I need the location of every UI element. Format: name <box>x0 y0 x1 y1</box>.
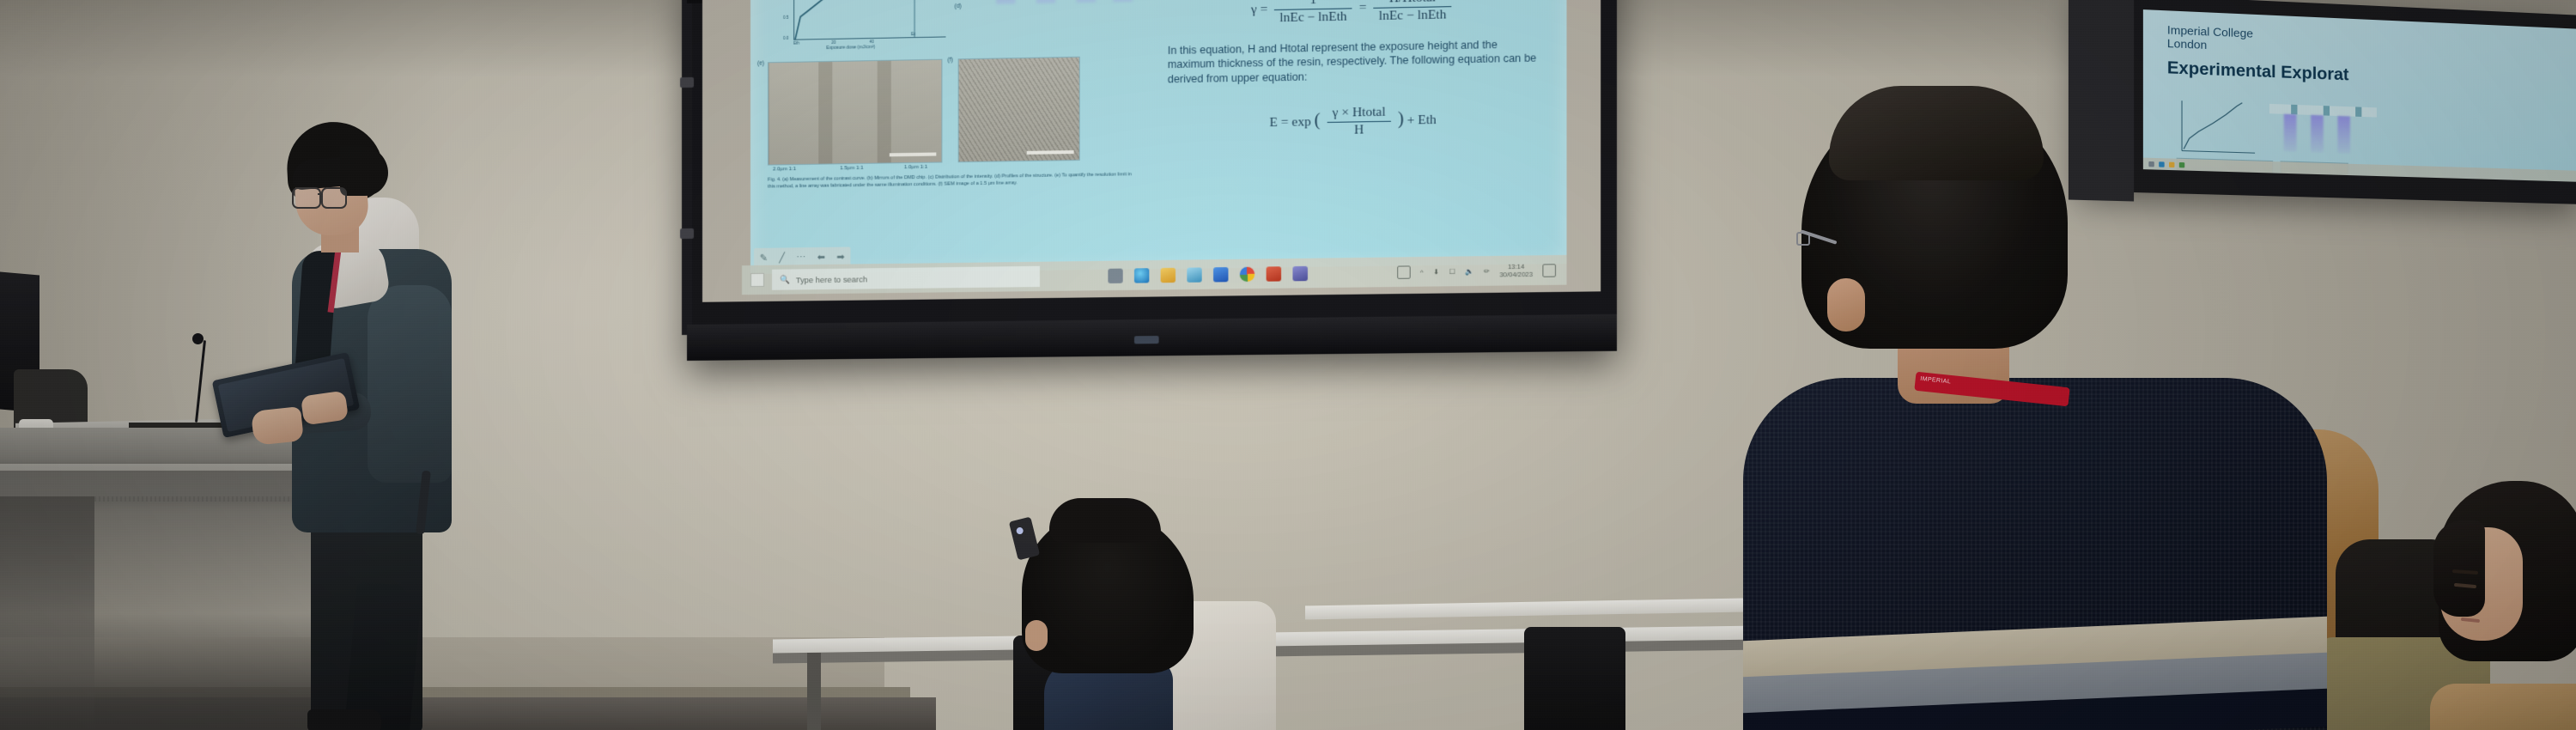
sem-label-20: 2.0µm 1:1 <box>773 167 796 172</box>
sem-image-line-array <box>768 59 942 166</box>
audience-center-ear <box>1025 620 1048 651</box>
chair <box>1524 627 1625 730</box>
taskbar-clock[interactable]: 13:14 30/04/2023 <box>1499 262 1532 279</box>
lecture-room-photo: Height (µm) Exposure dose (mJ/cm²) 0.0 0… <box>0 0 2576 730</box>
powerpoint-slide: Height (µm) Exposure dose (mJ/cm²) 0.0 0… <box>750 0 1567 274</box>
contrast-curve-figure: Height (µm) Exposure dose (mJ/cm²) 0.0 0… <box>766 0 952 53</box>
equation-gamma: γ = 1 lnEc − lnEth = H/Htotal lnEc − lnE… <box>1168 0 1540 27</box>
graph-xlabel: Exposure dose (mJ/cm²) <box>826 45 875 51</box>
projected-desktop: Height (µm) Exposure dose (mJ/cm²) 0.0 0… <box>702 0 1601 302</box>
sem-scalebar <box>890 152 937 156</box>
audience-foreground-hair-top <box>1829 86 2044 180</box>
dmd-intensity-figure: Intensity (a.u.) <box>965 0 1149 45</box>
screen-strap-clip <box>680 77 694 88</box>
graph-ytick-0: 0.0 <box>783 36 788 40</box>
presenter-jacket-arm <box>368 285 452 483</box>
equation2-denominator: H <box>1327 122 1390 138</box>
slide-paragraph-2: In this equation, H and Htotal represent… <box>1168 37 1540 87</box>
microphone-head-icon <box>192 333 204 344</box>
search-icon: 🔍 <box>780 274 790 284</box>
screen-side-strap <box>682 0 692 335</box>
equation-fraction-2: H/Htotal lnEc − lnEth <box>1374 0 1452 24</box>
edge-icon[interactable] <box>1134 268 1149 283</box>
glasses-icon <box>292 187 354 206</box>
start-button[interactable] <box>750 273 764 287</box>
teams-icon[interactable] <box>1292 265 1307 280</box>
monitor-slide-title: Experimental Explorat <box>2167 59 2349 86</box>
phone-icon <box>1009 517 1040 561</box>
sem-label-15: 1.5µm 1:1 <box>840 166 863 171</box>
graph-xtick-1: 20 <box>831 40 835 45</box>
slide-body-text: dose required for the initial reaction o… <box>1168 0 1540 156</box>
tray-app-icon[interactable] <box>1397 265 1411 278</box>
clock-time: 13:14 <box>1499 262 1532 271</box>
audience-center-hair-tuft <box>1049 498 1161 543</box>
sem-label-10: 1.0µm 1:1 <box>904 165 927 170</box>
equation-fraction-1: 1 lnEc − lnEth <box>1274 0 1352 26</box>
clock-date: 30/04/2023 <box>1499 271 1532 279</box>
graph-xtick-0: Eth <box>793 41 799 46</box>
search-placeholder: Type here to search <box>796 274 867 284</box>
audience-foreground: IMPERIAL <box>1735 94 2353 730</box>
monitor-brand: Imperial College London <box>2167 23 2253 53</box>
presenter <box>258 120 515 730</box>
system-tray[interactable]: ^ ⬇ ☐ 🔈 ✏ 13:14 30/04/2023 <box>1397 262 1567 281</box>
audience-center <box>970 507 1314 730</box>
glasses-lens-left <box>292 187 321 209</box>
audience-khaki-hair-front <box>2433 520 2485 617</box>
graph-marker-ec: Ec <box>911 32 915 36</box>
action-center-icon[interactable] <box>1542 264 1556 277</box>
hidden-icons-chevron[interactable]: ^ <box>1420 268 1424 276</box>
figure-letter-d: (d) <box>955 3 962 9</box>
table-leg <box>807 653 821 730</box>
presenter-shoe <box>307 709 381 730</box>
taskbar-pinned-apps[interactable] <box>1108 265 1308 283</box>
glasses-lens-right <box>321 187 347 209</box>
equation2-lhs: E = exp <box>1270 115 1311 130</box>
sem-image-15um-array <box>958 57 1080 162</box>
graph-ytick-1: 0.5 <box>783 15 788 20</box>
glasses-icon <box>1796 230 1841 265</box>
store-icon[interactable] <box>1187 267 1201 282</box>
figure-caption: Fig. 4. (a) Measurement of the contrast … <box>768 171 1133 190</box>
more-options-icon[interactable]: ⋯ <box>796 252 805 263</box>
presenter-leg-back <box>343 581 422 730</box>
pen-icon[interactable]: ✎ <box>760 252 768 263</box>
presenter-hand-left <box>251 406 304 446</box>
audience-foreground-ear <box>1827 278 1865 332</box>
pen-icon[interactable]: ✏ <box>1484 267 1490 275</box>
volume-icon[interactable]: 🔈 <box>1465 267 1473 275</box>
graph-xtick-2: 40 <box>870 40 874 44</box>
contrast-curve-line <box>793 0 945 41</box>
audience-khaki <box>2379 481 2576 730</box>
lectern-side-panel <box>0 496 94 730</box>
projection-screen: Height (µm) Exposure dose (mJ/cm²) 0.0 0… <box>687 0 1617 361</box>
figure-letter-f: (f) <box>947 57 952 63</box>
sem-band <box>878 61 891 163</box>
task-view-icon[interactable] <box>1108 268 1122 283</box>
powerpoint-icon[interactable] <box>1267 266 1281 281</box>
search-box[interactable]: 🔍 Type here to search <box>772 266 1040 290</box>
outlook-icon[interactable] <box>1213 267 1228 282</box>
equation-equals: = <box>1359 1 1367 15</box>
screen-strap-clip <box>680 228 694 239</box>
equation2-paren-open: ( <box>1315 111 1321 130</box>
onedrive-icon[interactable]: ⬇ <box>1433 268 1439 276</box>
equation2-paren-close: ) <box>1398 109 1404 129</box>
equation-lhs: γ = <box>1251 3 1267 17</box>
file-explorer-icon[interactable] <box>1161 267 1176 282</box>
chrome-icon[interactable] <box>1240 266 1255 281</box>
equation2-tail: + Eth <box>1407 113 1437 128</box>
equation2-fraction: γ × Htotal H <box>1327 106 1390 138</box>
figure-letter-e: (e) <box>757 60 764 66</box>
sem-band <box>818 62 832 164</box>
screen-surface: Height (µm) Exposure dose (mJ/cm²) 0.0 0… <box>702 0 1601 302</box>
previous-slide-icon[interactable]: ⬅ <box>817 251 825 262</box>
next-slide-icon[interactable]: ➡ <box>836 251 844 262</box>
highlighter-icon[interactable]: ╱ <box>779 252 785 263</box>
network-icon[interactable]: ☐ <box>1449 267 1455 275</box>
equation-exposure: E = exp ( γ × Htotal H ) + Eth <box>1168 103 1540 141</box>
equation2-numerator: γ × Htotal <box>1327 106 1390 123</box>
audience-khaki-body <box>2430 684 2576 730</box>
sem-scalebar <box>1027 150 1074 155</box>
equation-denominator-1: lnEc − lnEth <box>1274 9 1352 26</box>
equation-denominator-2: lnEc − lnEth <box>1374 7 1452 24</box>
